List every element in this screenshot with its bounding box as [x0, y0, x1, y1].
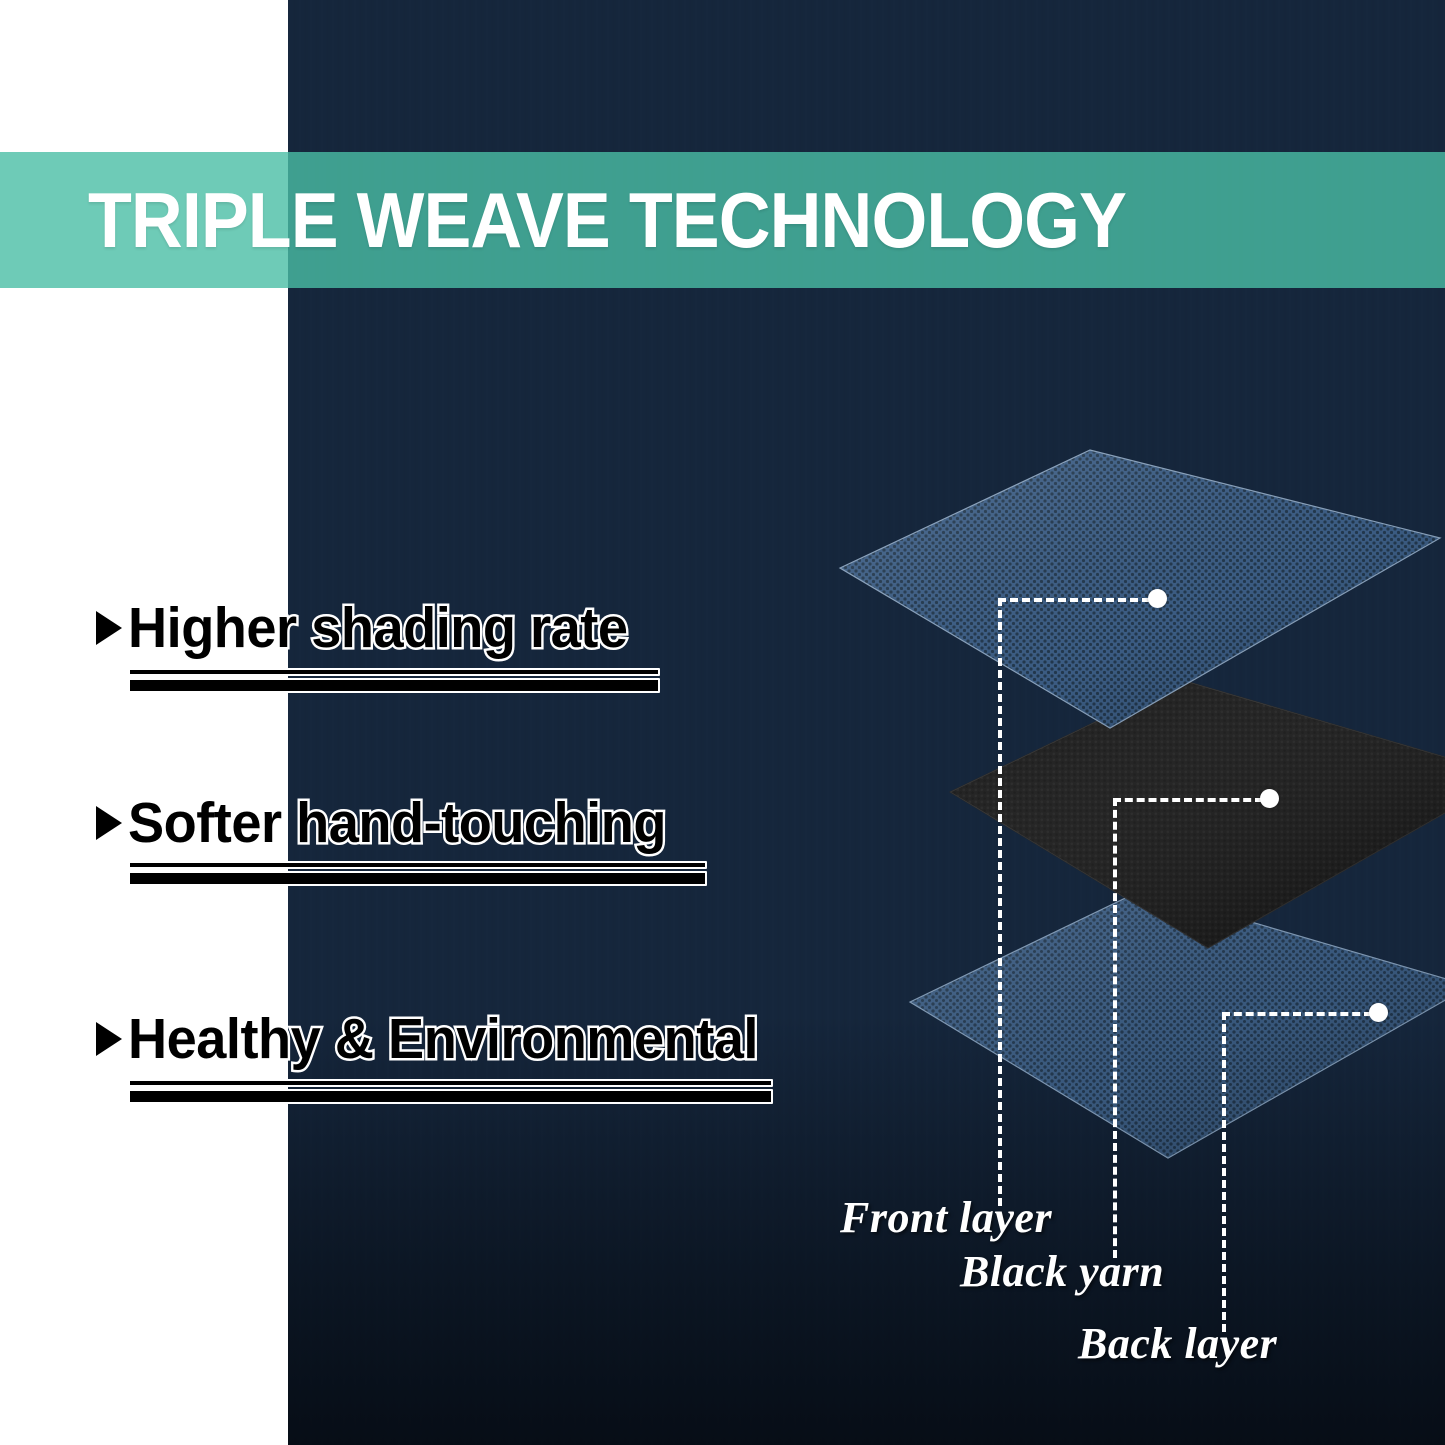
- product-feature-image: TRIPLE WEAVE TECHNOLOGY Higher shading r…: [0, 0, 1445, 1445]
- layer-label-back: Back layer: [1078, 1318, 1277, 1369]
- feature-rule-2: [128, 861, 707, 886]
- feature-rule-3: [128, 1079, 773, 1104]
- layer-label-black-yarn: Black yarn: [960, 1246, 1164, 1297]
- leader-horizontal: [1113, 798, 1263, 802]
- rule-thin-line: [128, 1079, 773, 1087]
- rule-thin-line: [128, 668, 660, 676]
- triangle-bullet-icon: [96, 1022, 122, 1056]
- feature-item-2: Softer hand-touching: [96, 790, 694, 856]
- rule-thick-bar: [128, 871, 707, 886]
- feature-item-3: Healthy & Environmental: [96, 1006, 791, 1072]
- feature-label-2: Softer hand-touching: [128, 790, 666, 856]
- triangle-bullet-icon: [96, 806, 122, 840]
- feature-label-3: Healthy & Environmental: [128, 1006, 758, 1072]
- leader-horizontal: [998, 598, 1150, 602]
- callout-dot: [1369, 1003, 1388, 1022]
- leader-vertical: [1113, 798, 1117, 1258]
- leader-vertical: [998, 598, 1002, 1206]
- leader-vertical: [1222, 1012, 1226, 1332]
- feature-item-1: Higher shading rate: [96, 595, 654, 661]
- rule-thin-line: [128, 861, 707, 869]
- layer-label-front: Front layer: [840, 1192, 1052, 1243]
- leader-horizontal: [1222, 1012, 1372, 1016]
- fabric-layer-diagram: [840, 430, 1445, 1190]
- callout-dot: [1148, 589, 1167, 608]
- callout-dot: [1260, 789, 1279, 808]
- rule-thick-bar: [128, 678, 660, 693]
- triangle-bullet-icon: [96, 611, 122, 645]
- page-title: TRIPLE WEAVE TECHNOLOGY: [88, 175, 1126, 266]
- rule-thick-bar: [128, 1089, 773, 1104]
- feature-label-1: Higher shading rate: [128, 595, 627, 661]
- feature-rule-1: [128, 668, 660, 693]
- title-banner: TRIPLE WEAVE TECHNOLOGY: [0, 152, 1445, 288]
